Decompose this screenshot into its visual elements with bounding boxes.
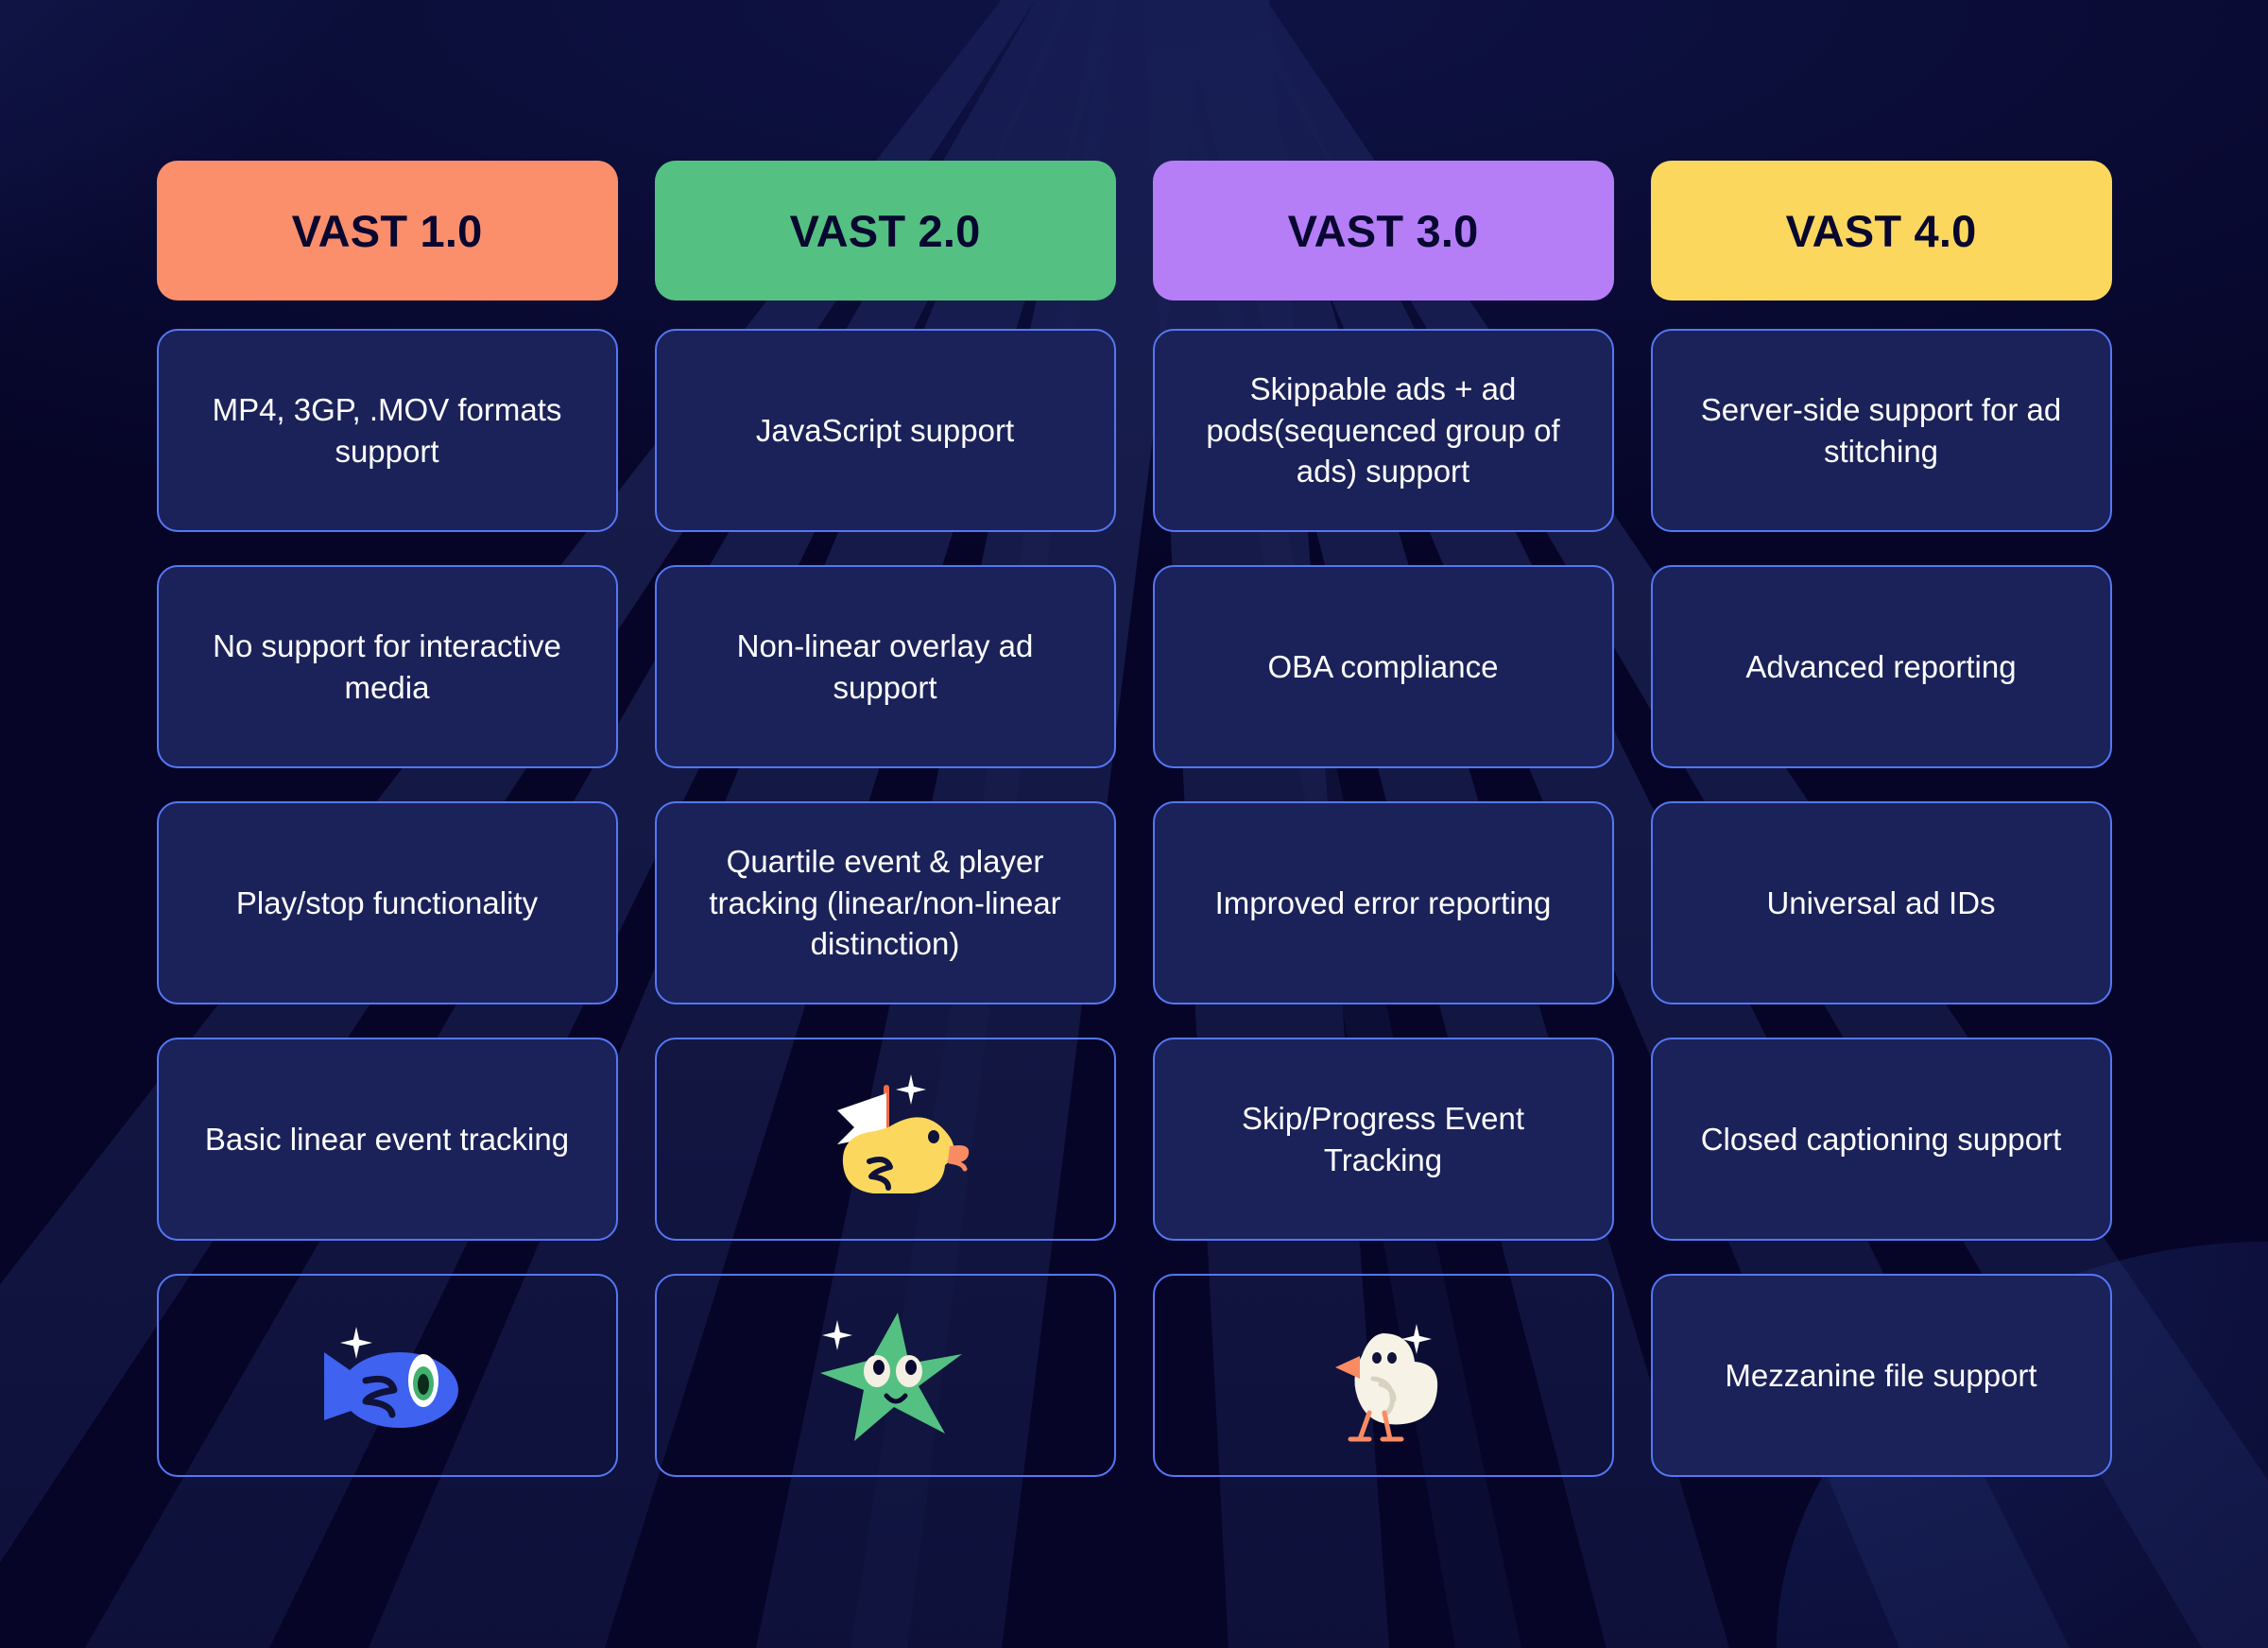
feature-cell-label: Skip/Progress Event Tracking bbox=[1179, 1098, 1588, 1180]
feature-cell: Play/stop functionality bbox=[157, 801, 618, 1004]
star-face-icon bbox=[796, 1305, 975, 1447]
column-header-label: VAST 3.0 bbox=[1288, 205, 1479, 257]
feature-cell-decorative bbox=[655, 1274, 1116, 1477]
feature-cell-label: Server-side support for ad stitching bbox=[1677, 389, 2086, 472]
column-header-vast-1-0[interactable]: VAST 1.0 bbox=[157, 161, 618, 300]
feature-cell-decorative bbox=[157, 1274, 618, 1477]
column-header-label: VAST 4.0 bbox=[1786, 205, 1977, 257]
feature-cell-label: Universal ad IDs bbox=[1766, 883, 1995, 924]
feature-cell-decorative bbox=[655, 1038, 1116, 1241]
feature-cell: Mezzanine file support bbox=[1651, 1274, 2112, 1477]
column-header-vast-4-0[interactable]: VAST 4.0 bbox=[1651, 161, 2112, 300]
feature-cell: Advanced reporting bbox=[1651, 565, 2112, 768]
column-vast-1-0: VAST 1.0MP4, 3GP, .MOV formats supportNo… bbox=[157, 161, 618, 1510]
bird-icon bbox=[1294, 1305, 1473, 1447]
feature-cell: Improved error reporting bbox=[1153, 801, 1614, 1004]
column-header-label: VAST 1.0 bbox=[292, 205, 483, 257]
feature-cell-label: Mezzanine file support bbox=[1725, 1355, 2036, 1397]
feature-cell-decorative bbox=[1153, 1274, 1614, 1477]
feature-cell: Skip/Progress Event Tracking bbox=[1153, 1038, 1614, 1241]
feature-cell-label: JavaScript support bbox=[756, 410, 1014, 452]
feature-cell: JavaScript support bbox=[655, 329, 1116, 532]
feature-cell: Skippable ads + ad pods(sequenced group … bbox=[1153, 329, 1614, 532]
feature-cell: MP4, 3GP, .MOV formats support bbox=[157, 329, 618, 532]
feature-cell-label: Advanced reporting bbox=[1745, 646, 2016, 688]
feature-cell: Quartile event & player tracking (linear… bbox=[655, 801, 1116, 1004]
feature-cell-label: Improved error reporting bbox=[1215, 883, 1552, 924]
feature-cell-label: Non-linear overlay ad support bbox=[681, 626, 1090, 708]
column-header-label: VAST 2.0 bbox=[790, 205, 981, 257]
feature-cell-label: Quartile event & player tracking (linear… bbox=[681, 841, 1090, 965]
column-vast-4-0: VAST 4.0Server-side support for ad stitc… bbox=[1651, 161, 2112, 1510]
column-vast-2-0: VAST 2.0JavaScript supportNon-linear ove… bbox=[655, 161, 1116, 1510]
feature-cell: Server-side support for ad stitching bbox=[1651, 329, 2112, 532]
feature-cell-label: Skippable ads + ad pods(sequenced group … bbox=[1179, 369, 1588, 492]
duck-with-flag-icon bbox=[796, 1069, 975, 1210]
feature-cell: Closed captioning support bbox=[1651, 1038, 2112, 1241]
feature-cell-label: Play/stop functionality bbox=[236, 883, 538, 924]
feature-cell: Universal ad IDs bbox=[1651, 801, 2112, 1004]
column-header-vast-2-0[interactable]: VAST 2.0 bbox=[655, 161, 1116, 300]
fish-icon bbox=[298, 1305, 477, 1447]
feature-cell-label: Basic linear event tracking bbox=[205, 1119, 569, 1160]
feature-cell: OBA compliance bbox=[1153, 565, 1614, 768]
feature-cell-label: MP4, 3GP, .MOV formats support bbox=[183, 389, 592, 472]
feature-cell: Basic linear event tracking bbox=[157, 1038, 618, 1241]
column-header-vast-3-0[interactable]: VAST 3.0 bbox=[1153, 161, 1614, 300]
feature-cell-label: Closed captioning support bbox=[1701, 1119, 2062, 1160]
column-vast-3-0: VAST 3.0Skippable ads + ad pods(sequence… bbox=[1153, 161, 1614, 1510]
vast-comparison-grid: VAST 1.0MP4, 3GP, .MOV formats supportNo… bbox=[0, 0, 2268, 1648]
feature-cell-label: OBA compliance bbox=[1268, 646, 1499, 688]
feature-cell: No support for interactive media bbox=[157, 565, 618, 768]
feature-cell-label: No support for interactive media bbox=[183, 626, 592, 708]
feature-cell: Non-linear overlay ad support bbox=[655, 565, 1116, 768]
